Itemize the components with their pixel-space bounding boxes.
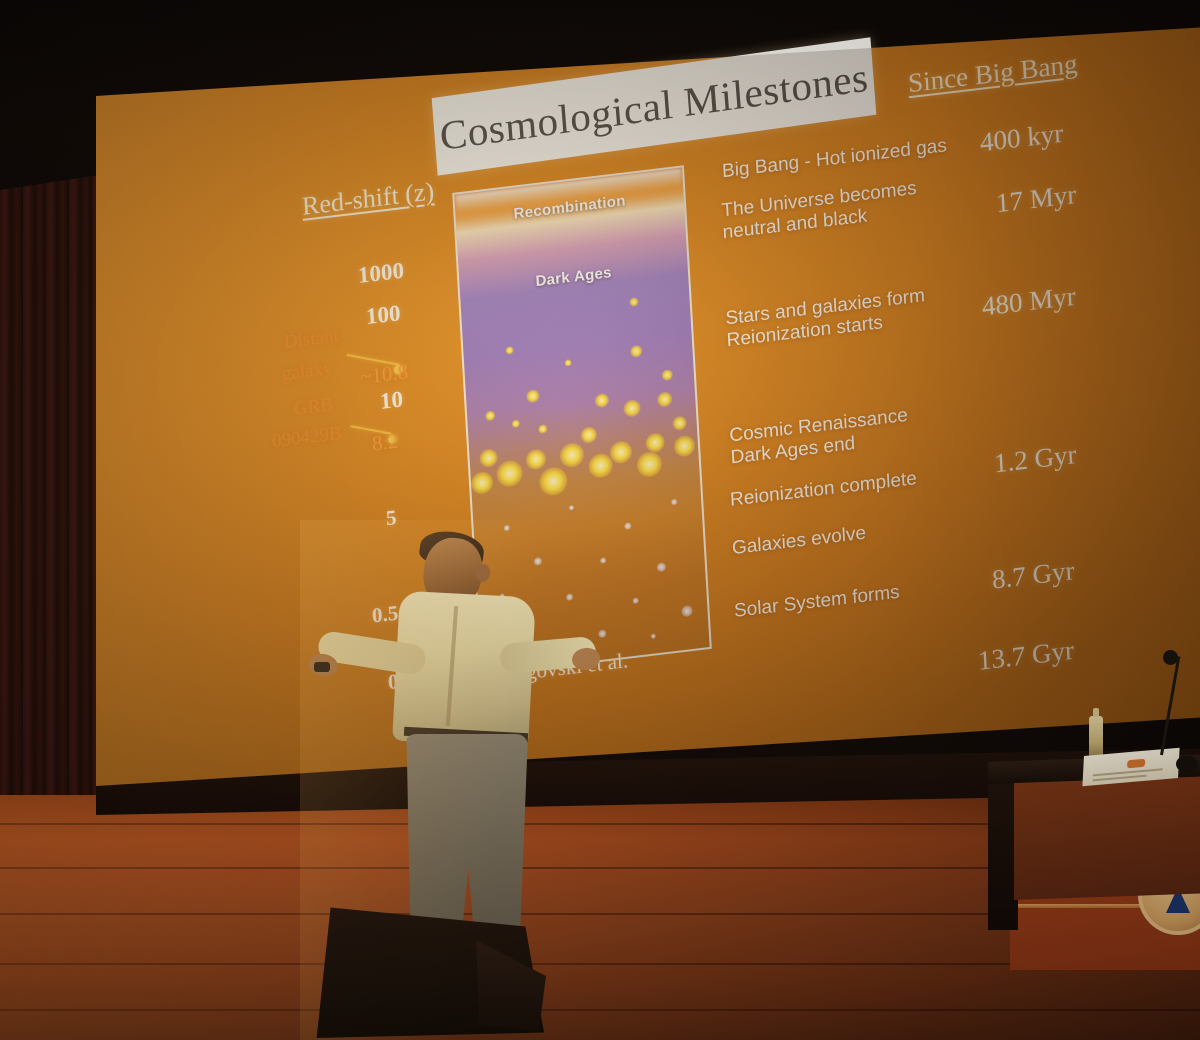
z-tick-100: 100 (365, 300, 401, 330)
milestone-event-3: Cosmic Renaissance Dark Ages end (729, 405, 910, 470)
milestone-time-3: 1.2 Gyr (993, 439, 1077, 479)
milestone-event-0: Big Bang - Hot ionized gas (722, 135, 948, 183)
milestone-event-2: Stars and galaxies form Reionization sta… (725, 285, 927, 352)
microphone-icon (1163, 650, 1178, 665)
annotation-distant-galaxy-line1: Distant (283, 325, 339, 353)
milestone-time-1: 17 Myr (995, 179, 1077, 219)
lectern-body (1014, 774, 1200, 900)
red-shift-header: Red-shift (z) (301, 176, 435, 221)
milestone-time-0: 400 kyr (979, 118, 1064, 159)
presenter-ear (475, 563, 491, 583)
milestone-time-2: 480 Myr (981, 281, 1076, 323)
slide-content: Cosmological Milestones Since Big Bang R… (96, 28, 1200, 786)
milestone-time-6: 8.7 Gyr (991, 555, 1075, 595)
panel-label-dark-ages: Dark Ages (459, 255, 688, 299)
second-microphone (1176, 756, 1198, 772)
projection-screen: Cosmological Milestones Since Big Bang R… (96, 28, 1200, 786)
water-bottle (1089, 716, 1103, 760)
lecture-hall-photo: Cosmological Milestones Since Big Bang R… (0, 0, 1200, 1040)
milestone-event-6: Solar System forms (734, 582, 901, 623)
since-big-bang-header: Since Big Bang (907, 48, 1078, 99)
presenter-remote-clicker (314, 662, 330, 672)
annotation-grb-line1: GRB (293, 394, 333, 420)
annotation-grb-value: 8.2 (371, 429, 399, 457)
z-tick-1000: 1000 (357, 258, 404, 289)
annotation-distant-galaxy-value: ~10.8 (359, 359, 408, 390)
milestone-event-5: Galaxies evolve (732, 523, 867, 560)
milestone-time-7: 13.7 Gyr (977, 635, 1075, 677)
z-tick-10: 10 (379, 386, 403, 415)
milestone-event-4: Reionization complete (730, 468, 918, 512)
annotation-distant-galaxy-line2: galaxy (281, 358, 333, 386)
milestone-event-1: The Universe becomes neutral and black (721, 178, 918, 245)
annotation-grb-line2: 090429B (271, 423, 342, 453)
